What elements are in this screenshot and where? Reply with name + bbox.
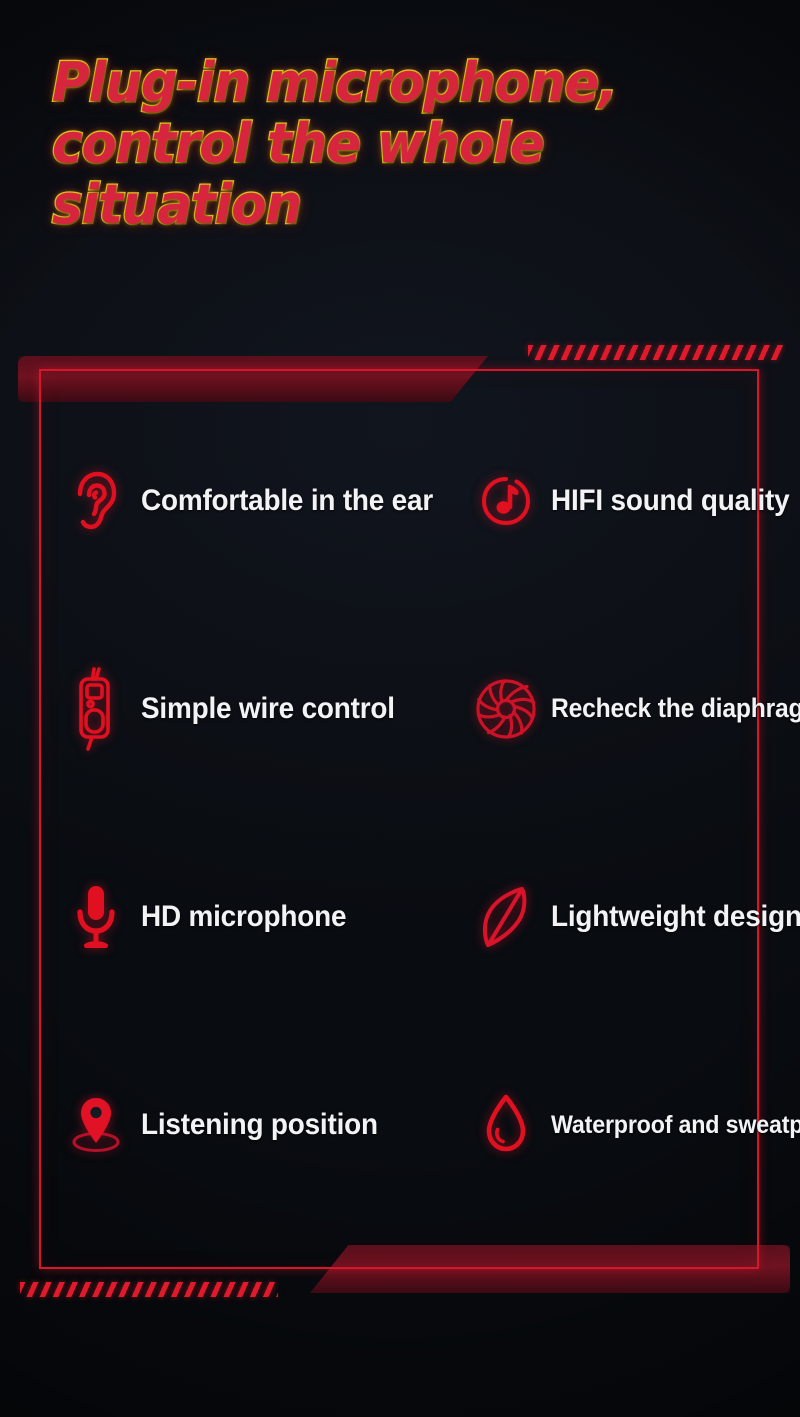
music-note-circle-icon <box>475 468 537 534</box>
feature-label: Simple wire control <box>141 693 395 725</box>
feature-item-comfortable-in-the-ear: Comfortable in the ear <box>39 468 463 534</box>
feature-grid: Comfortable in the ear HIFI sound qualit… <box>39 369 759 1269</box>
feature-label: Lightweight design <box>551 901 800 933</box>
product-feature-poster: Plug-in microphone, control the whole si… <box>0 0 800 1417</box>
feature-item-recheck-the-diaphragm: Recheck the diaphragm <box>463 676 800 742</box>
feature-item-hifi-sound-quality: HIFI sound quality <box>463 468 800 534</box>
feature-label: Comfortable in the ear <box>141 485 433 517</box>
feature-label: Listening position <box>141 1109 378 1141</box>
feature-item-lightweight-design: Lightweight design <box>463 884 800 950</box>
water-drop-icon <box>475 1092 537 1158</box>
diaphragm-aperture-icon <box>475 676 537 742</box>
feature-label: Waterproof and sweatproof <box>551 1112 800 1138</box>
feature-item-listening-position: Listening position <box>39 1092 463 1158</box>
feature-label: Recheck the diaphragm <box>551 695 800 723</box>
hatch-stripes-bottom-left <box>20 1282 278 1297</box>
feature-item-hd-microphone: HD microphone <box>39 884 463 950</box>
microphone-icon <box>65 884 127 950</box>
map-pin-icon <box>65 1092 127 1158</box>
leaf-icon <box>475 884 537 950</box>
feature-label: HD microphone <box>141 901 346 933</box>
feature-item-simple-wire-control: Simple wire control <box>39 676 463 742</box>
inline-remote-control-icon <box>65 676 127 742</box>
feature-label: HIFI sound quality <box>551 485 789 517</box>
feature-item-waterproof-and-sweatproof: Waterproof and sweatproof <box>463 1092 800 1158</box>
ear-icon <box>65 468 127 534</box>
hatch-stripes-top-right <box>528 345 783 360</box>
page-title: Plug-in microphone, control the whole si… <box>52 52 736 235</box>
